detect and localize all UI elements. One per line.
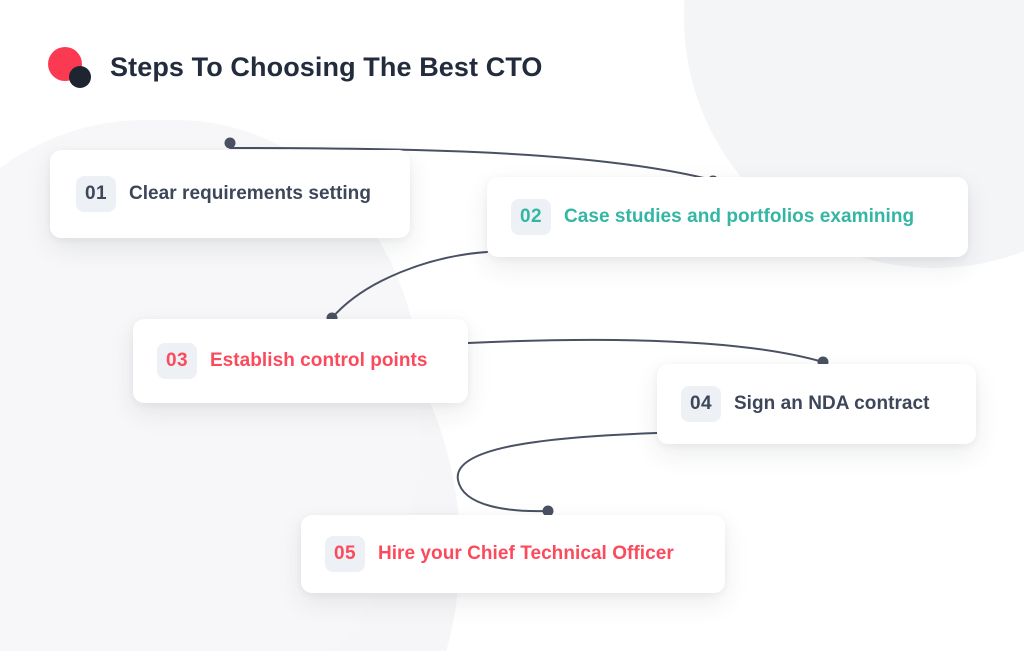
brand-logo — [48, 40, 98, 94]
step-number-badge-02: 02 — [511, 199, 551, 235]
infographic-canvas: Steps To Choosing The Best CTO 01 Clear … — [0, 0, 1024, 651]
connector-dot-01 — [225, 138, 236, 149]
step-label-01: Clear requirements setting — [129, 183, 371, 205]
step-card-02[interactable]: 02 Case studies and portfolios examining — [487, 177, 968, 257]
step-number-badge-03: 03 — [157, 343, 197, 379]
step-card-05[interactable]: 05 Hire your Chief Technical Officer — [301, 515, 725, 593]
step-card-03[interactable]: 03 Establish control points — [133, 319, 468, 403]
connector-path-03-to-04 — [468, 340, 823, 362]
step-card-01[interactable]: 01 Clear requirements setting — [50, 150, 410, 238]
step-number-badge-01: 01 — [76, 176, 116, 212]
step-label-05: Hire your Chief Technical Officer — [378, 543, 674, 565]
page-title: Steps To Choosing The Best CTO — [110, 52, 543, 83]
logo-circle-secondary-icon — [69, 66, 91, 88]
step-label-04: Sign an NDA contract — [734, 393, 930, 415]
connector-path-02-to-03 — [332, 252, 487, 318]
step-number-badge-05: 05 — [325, 536, 365, 572]
step-label-03: Establish control points — [210, 350, 428, 372]
step-label-02: Case studies and portfolios examining — [564, 206, 914, 228]
connector-path-04-to-05 — [458, 433, 657, 511]
header: Steps To Choosing The Best CTO — [48, 40, 543, 94]
step-number-badge-04: 04 — [681, 386, 721, 422]
step-card-04[interactable]: 04 Sign an NDA contract — [657, 364, 976, 444]
